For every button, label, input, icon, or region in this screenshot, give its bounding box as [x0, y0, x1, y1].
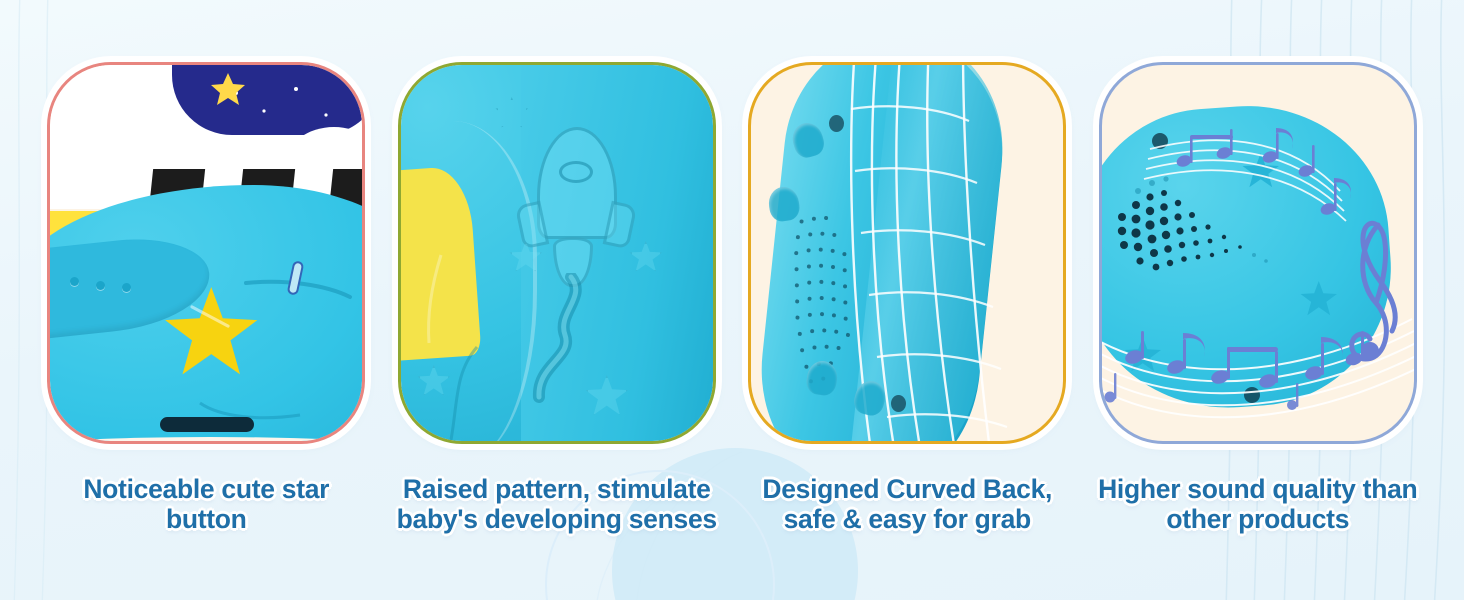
feature-caption-sound-quality: Higher sound quality than other products: [1093, 474, 1423, 534]
feature-image-sound-quality: [1102, 65, 1414, 441]
toy-speaker-slot: [160, 417, 254, 432]
feature-item-sound-quality: Higher sound quality than other products: [1092, 62, 1425, 534]
feature-panel-row: Noticeable cute star button: [0, 0, 1464, 600]
feature-image-frame-curved-back: [748, 62, 1066, 444]
feature-caption-curved-back: Designed Curved Back, safe & easy for gr…: [742, 474, 1072, 534]
feature-image-curved-back: [751, 65, 1063, 441]
feature-image-frame-raised-pattern: [398, 62, 716, 444]
feature-item-raised-pattern: Raised pattern, stimulate baby's develop…: [391, 62, 724, 534]
feature-item-curved-back: Designed Curved Back, safe & easy for gr…: [741, 62, 1074, 534]
feature-image-frame-sound-quality: [1099, 62, 1417, 444]
treble-clef-icon: [1352, 223, 1395, 359]
feature-image-frame-star-button: [47, 62, 365, 444]
toy-body-contours: [50, 65, 362, 441]
feature-showcase: Noticeable cute star button: [0, 0, 1464, 600]
feature-item-star-button: Noticeable cute star button: [40, 62, 373, 534]
music-notes-overlay: [1102, 105, 1414, 435]
feature-image-raised-pattern: [401, 65, 713, 441]
feature-caption-raised-pattern: Raised pattern, stimulate baby's develop…: [392, 474, 722, 534]
feature-image-star-button: [50, 65, 362, 441]
toy-highlights: [401, 65, 713, 441]
feature-caption-star-button: Noticeable cute star button: [41, 474, 371, 534]
